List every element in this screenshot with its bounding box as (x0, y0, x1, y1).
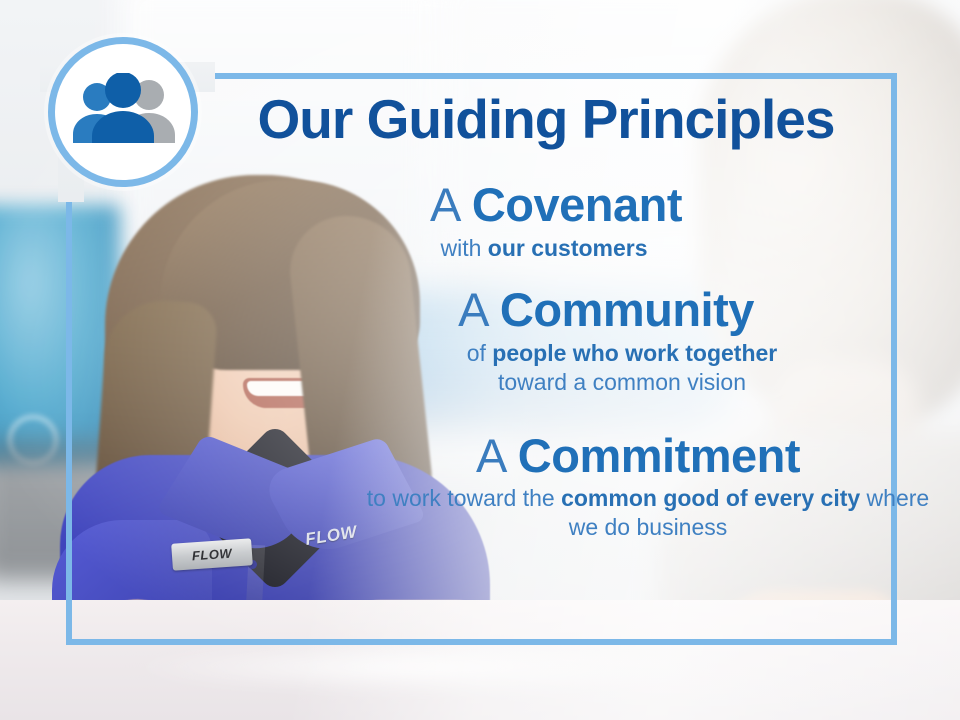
principle-sub-plain-1: to work toward the (367, 485, 561, 511)
people-group-icon-badge (48, 37, 198, 187)
principle-subtext: to work toward the common good of every … (358, 484, 938, 542)
principle-sub-plain-2: toward a common vision (498, 369, 746, 395)
principle-sub-bold-1: people who work together (492, 340, 777, 366)
principle-article: A (476, 429, 518, 482)
principle-article: A (458, 283, 500, 336)
photo-desk-highlight (120, 642, 720, 692)
principle-heading: A Community (316, 285, 896, 335)
principle-article: A (430, 178, 472, 231)
principle-sub-bold-1: our customers (488, 235, 648, 261)
principle-heading: A Covenant (266, 180, 846, 230)
people-group-icon (69, 73, 177, 151)
principle-heading: A Commitment (348, 431, 928, 481)
principle-sub-plain-1: with (440, 235, 487, 261)
principle-keyword: Covenant (472, 178, 682, 231)
principle-subtext: with our customers (254, 234, 834, 263)
principle-item: A Commitment to work toward the common g… (300, 431, 880, 543)
principle-sub-bold-1: common (561, 485, 657, 511)
employee-name-badge-text: FLOW (191, 547, 232, 563)
principles-list: A Covenant with our customers A Communit… (300, 180, 880, 548)
principle-sub-plain-1: of (467, 340, 493, 366)
principle-subtext: of people who work togethertoward a comm… (332, 339, 912, 397)
principle-keyword: Commitment (518, 429, 800, 482)
principle-keyword: Community (500, 283, 754, 336)
principle-item: A Covenant with our customers (300, 180, 880, 263)
principle-item: A Community of people who work togethert… (300, 285, 880, 397)
principle-sub-bold-2: good of every city (663, 485, 860, 511)
employee-name-badge: FLOW (171, 538, 253, 571)
guiding-principles-poster: FLOW FLOW (0, 0, 960, 720)
page-title: Our Guiding Principles (216, 92, 876, 147)
